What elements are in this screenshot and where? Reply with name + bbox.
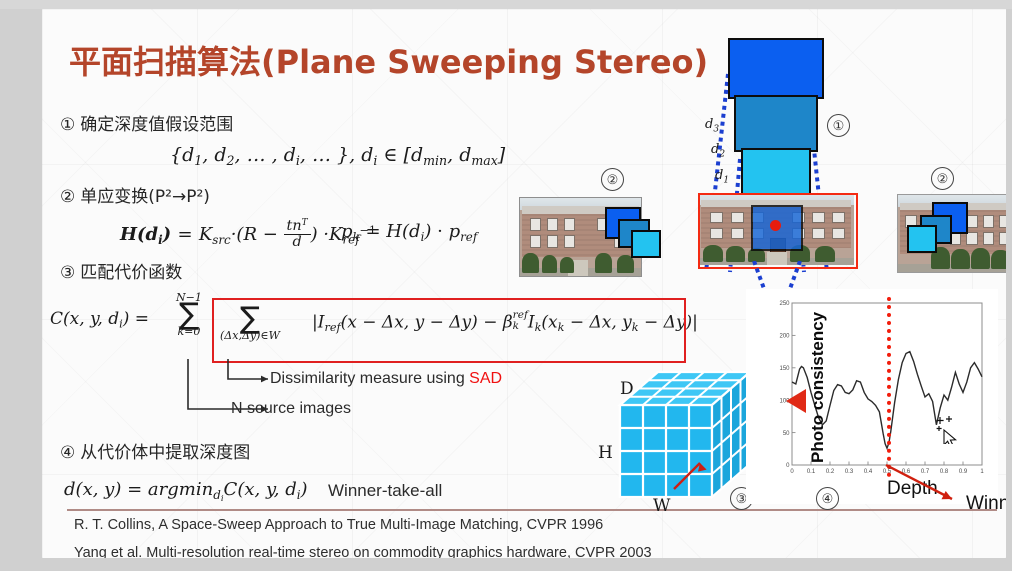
svg-text:250: 250 xyxy=(779,301,790,307)
reference-2: Yang et al. Multi-resolution real-time s… xyxy=(74,545,652,558)
window-frame-top xyxy=(0,0,1012,9)
window-frame-right xyxy=(1006,0,1012,571)
step-4: ④从代价体中提取深度图 xyxy=(60,438,250,463)
step-3: ③匹配代价函数 xyxy=(60,258,182,283)
step-2: ②单应变换(P²→P²) xyxy=(60,182,210,207)
annotation-dissimilarity: Dissimilarity measure using SAD xyxy=(270,370,502,388)
slide-root: 平面扫描算法(Plane Sweeping Stereo) ①确定深度值假设范围… xyxy=(0,0,1012,571)
svg-text:200: 200 xyxy=(779,334,790,340)
formula-winner: d(x, y) = argmindiC(x, y, di) xyxy=(64,479,308,504)
divider xyxy=(67,509,997,511)
formula-pixel-map: pk = H(di) · pref xyxy=(341,221,477,244)
depth-plane-d2 xyxy=(734,95,818,152)
step-1: ①确定深度值假设范围 xyxy=(60,110,233,135)
depth-label-d3: d3 xyxy=(705,117,719,135)
step-1-marker: ① xyxy=(60,115,75,135)
chart-winner-annotation: Winner xyxy=(966,493,1006,515)
formula-depth-set: {d1, d2, … , di, … }, di ∈ [dmin, dmax] xyxy=(170,144,505,168)
svg-text:0: 0 xyxy=(790,469,794,475)
formula-cost-lhs: C(x, y, di) = xyxy=(50,309,149,331)
window-frame-left xyxy=(0,0,42,571)
step-2-label: 单应变换(P²→P²) xyxy=(80,187,210,207)
marker-circle-2-left: ② xyxy=(601,168,624,191)
step-2-marker: ② xyxy=(60,187,75,207)
svg-text:150: 150 xyxy=(779,366,790,372)
right-patch-d1 xyxy=(907,225,937,253)
formula-cost-sum-outer: N−1∑k=0 xyxy=(176,292,202,337)
window-frame-bottom xyxy=(0,558,1012,571)
depth-plane-d3 xyxy=(728,38,824,99)
svg-text:0.4: 0.4 xyxy=(864,469,873,475)
winner-vertical-line xyxy=(887,297,891,477)
svg-text:0.3: 0.3 xyxy=(845,469,854,475)
mouse-cursor xyxy=(936,414,962,444)
cost-highlight-box xyxy=(212,298,686,363)
depth-label-d1: d1 xyxy=(715,168,729,186)
cube-label-width: W xyxy=(653,496,670,516)
svg-text:0.2: 0.2 xyxy=(826,469,835,475)
step-3-marker: ③ xyxy=(60,263,75,283)
formula-homography: H(di) = Ksrc·(R − tnTd) ·Kref−1 xyxy=(120,219,376,250)
step-1-label: 确定深度值假设范围 xyxy=(80,115,233,135)
reference-1: R. T. Collins, A Space-Sweep Approach to… xyxy=(74,517,603,533)
svg-text:0.1: 0.1 xyxy=(807,469,816,475)
winner-arrow xyxy=(880,461,970,507)
winner-take-all-label: Winner-take-all xyxy=(328,481,442,501)
photo-consistency-arrow xyxy=(784,387,808,415)
marker-circle-2-right: ② xyxy=(931,167,954,190)
svg-text:50: 50 xyxy=(783,431,790,437)
depth-label-d2: d2 xyxy=(711,142,725,160)
annotation-n-source: N source images xyxy=(231,400,351,418)
left-patch-d1 xyxy=(631,230,661,258)
center-red-dot xyxy=(770,220,781,231)
step-4-label: 从代价体中提取深度图 xyxy=(80,443,250,463)
chart-ylabel: Photo consistency xyxy=(808,312,828,463)
cube-label-height: H xyxy=(598,443,613,463)
annotation-dissimilarity-text: Dissimilarity measure using xyxy=(270,370,469,387)
slide-canvas: 平面扫描算法(Plane Sweeping Stereo) ①确定深度值假设范围… xyxy=(42,9,1006,558)
step-3-label: 匹配代价函数 xyxy=(80,263,182,283)
marker-circle-4: ④ xyxy=(816,487,839,510)
cube-label-depth: D xyxy=(620,379,634,399)
page-title: 平面扫描算法(Plane Sweeping Stereo) xyxy=(69,37,708,83)
step-4-marker: ④ xyxy=(60,443,75,463)
svg-text:1: 1 xyxy=(980,469,984,475)
marker-circle-1: ① xyxy=(827,114,850,137)
annotation-sad: SAD xyxy=(469,370,502,387)
